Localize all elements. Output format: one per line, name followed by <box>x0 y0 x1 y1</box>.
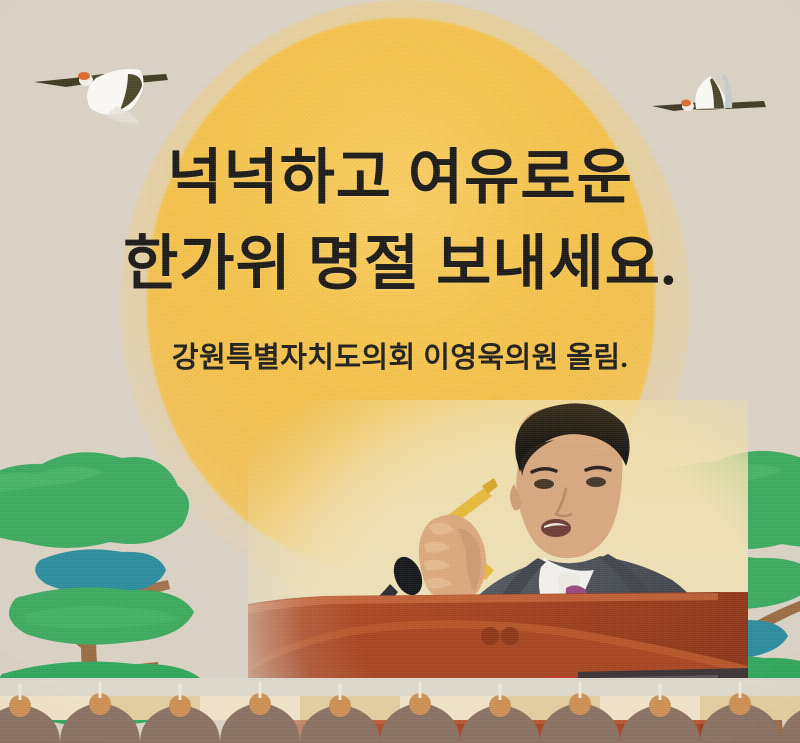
crane-left-icon <box>28 30 168 110</box>
greeting-card: 넉넉하고 여유로운 한가위 명절 보내세요. 강원특별자치도의회 이영욱의원 올… <box>0 0 800 743</box>
headline-line-1: 넉넉하고 여유로운 <box>0 136 800 222</box>
giwa-tile-border <box>0 678 800 743</box>
headline-line-2: 한가위 명절 보내세요. <box>0 222 800 308</box>
crane-right-icon <box>648 62 768 132</box>
greeting-text-block: 넉넉하고 여유로운 한가위 명절 보내세요. 강원특별자치도의회 이영욱의원 올… <box>0 136 800 376</box>
signature-line: 강원특별자치도의회 이영욱의원 올림. <box>0 334 800 376</box>
